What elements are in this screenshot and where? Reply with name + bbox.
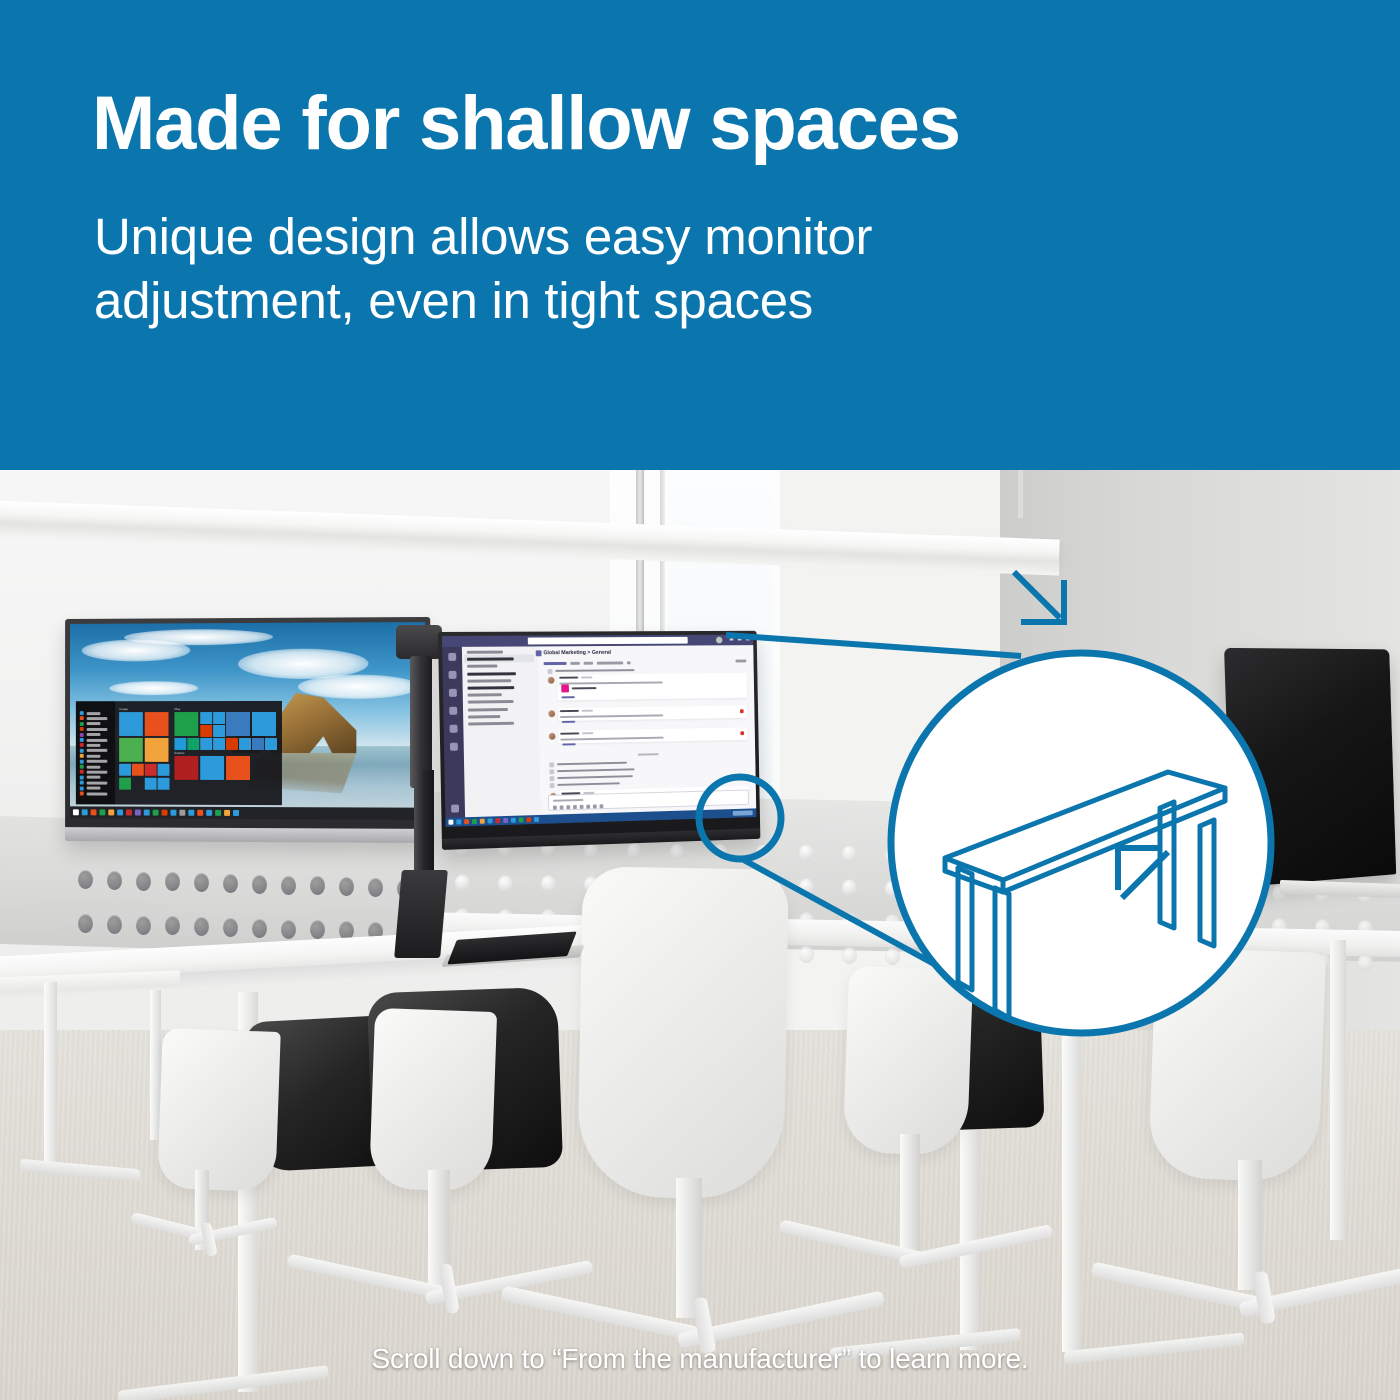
callout-source-circle — [699, 777, 781, 859]
office-scene-photo: CreatePlayExplore — [0, 470, 1400, 1400]
page-subtitle: Unique design allows easy monitor adjust… — [94, 205, 1144, 334]
page-title: Made for shallow spaces — [92, 86, 960, 162]
magnifier-callout — [0, 470, 1400, 1400]
arrow-top-down-right — [1014, 572, 1064, 622]
footer-caption: Scroll down to “From the manufacturer” t… — [0, 1343, 1400, 1375]
header-band: Made for shallow spaces Unique design al… — [0, 0, 1400, 470]
product-feature-banner: Made for shallow spaces Unique design al… — [0, 0, 1400, 1400]
